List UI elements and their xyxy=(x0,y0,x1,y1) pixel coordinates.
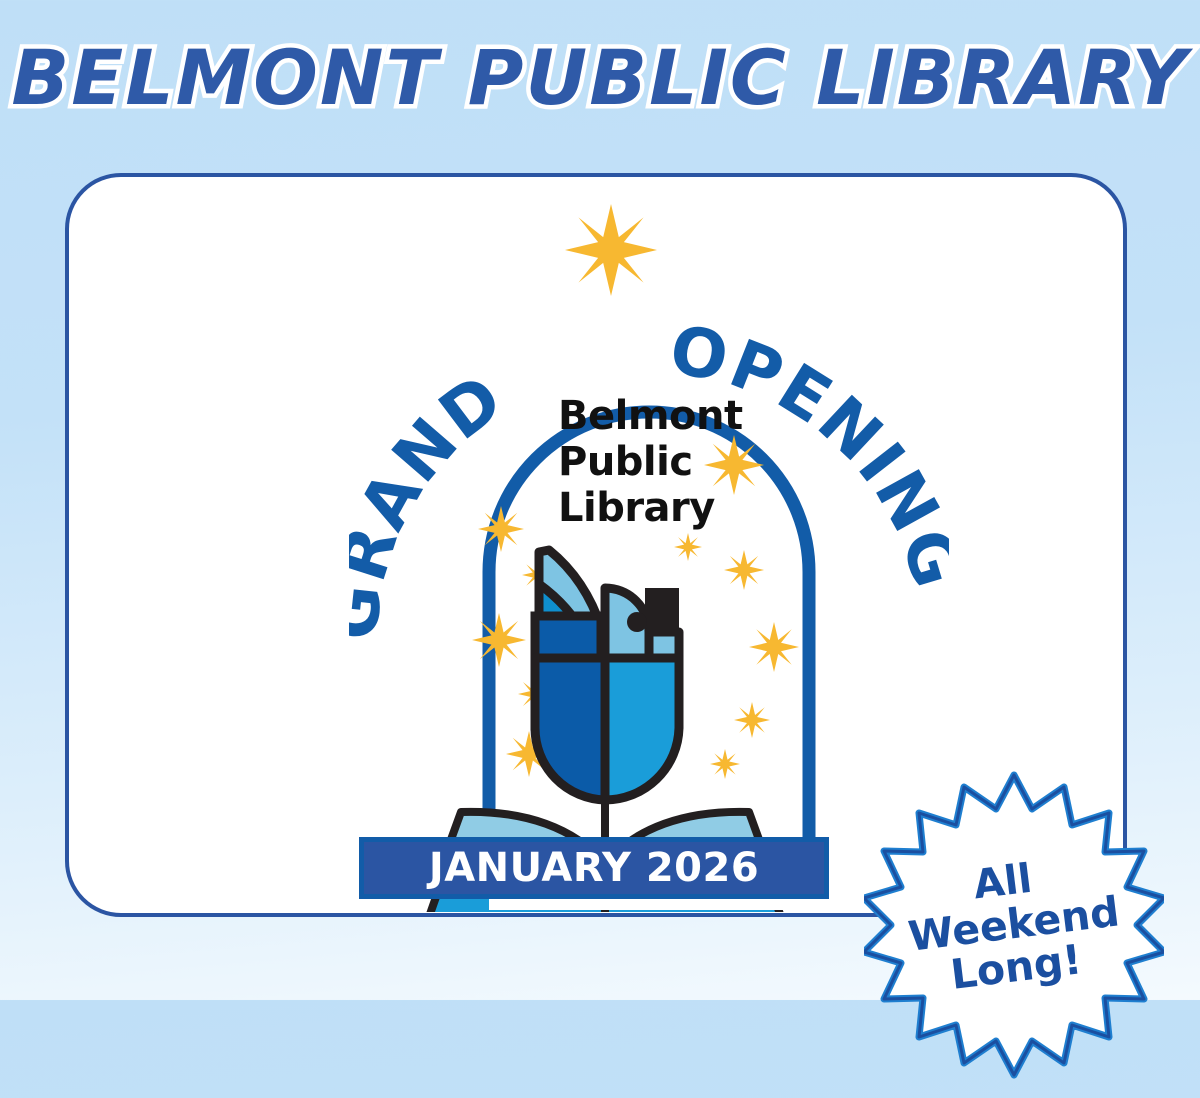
svg-text:Belmont: Belmont xyxy=(558,393,743,439)
page-title: BELMONT PUBLIC LIBRARY xyxy=(0,38,1200,118)
sparkle-star-6 xyxy=(674,533,702,561)
sparkle-star-8 xyxy=(749,622,799,672)
emblem-svg: GRAND OPENING Belmont Public Library xyxy=(349,192,949,912)
grand-opening-emblem: GRAND OPENING Belmont Public Library xyxy=(349,192,949,912)
sparkle-star-10 xyxy=(710,749,740,779)
svg-text:Public: Public xyxy=(558,439,693,485)
sparkle-star-9 xyxy=(734,702,770,738)
starburst-shape xyxy=(864,769,1164,1081)
bird-eye xyxy=(627,612,647,632)
sparkle-star-3 xyxy=(472,613,526,667)
all-weekend-long-badge: All Weekend Long! xyxy=(864,769,1164,1081)
january-banner: JANUARY 2026 xyxy=(359,837,829,899)
svg-text:Library: Library xyxy=(558,485,715,531)
sparkle-star-7 xyxy=(724,550,764,590)
january-banner-label: JANUARY 2026 xyxy=(429,845,759,891)
sparkle-star-wordmark xyxy=(704,435,764,495)
poster-card: GRAND OPENING Belmont Public Library xyxy=(65,173,1127,917)
sparkle-star-top xyxy=(565,204,657,296)
sparkle-star-1 xyxy=(478,506,524,552)
